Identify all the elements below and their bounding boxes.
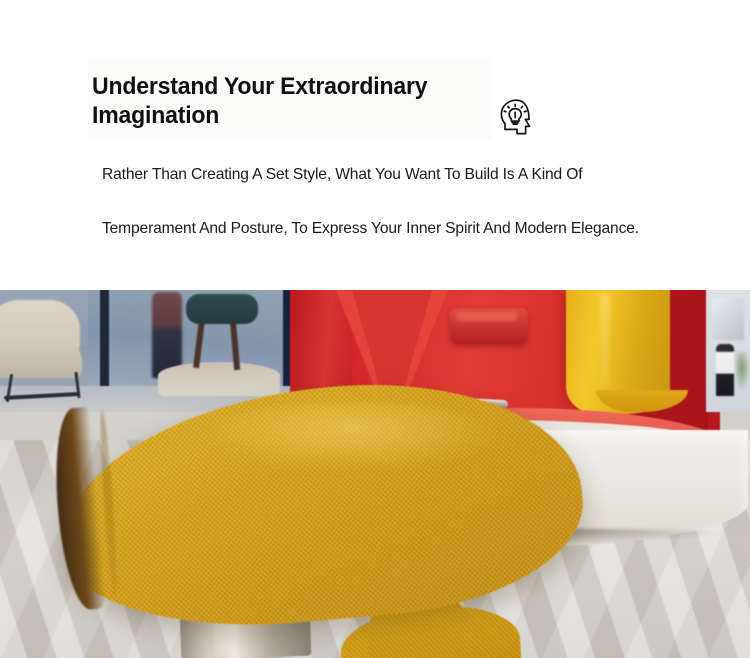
body-copy: Rather Than Creating A Set Style, What Y… — [102, 166, 742, 238]
copy-section: Understand Your Extraordinary Imaginatio… — [0, 0, 750, 290]
cream-armchair-seat — [0, 342, 82, 378]
showroom-photo — [0, 290, 750, 658]
red-display-seat-highlight — [456, 312, 518, 321]
page-title: Understand Your Extraordinary Imaginatio… — [92, 72, 476, 130]
far-right-signage — [712, 298, 744, 340]
head-lightbulb-icon — [496, 96, 534, 138]
body-line-1: Rather Than Creating A Set Style, What Y… — [102, 166, 726, 184]
body-line-2: Temperament And Posture, To Express Your… — [102, 220, 726, 238]
yellow-chair-highlight — [200, 402, 500, 472]
headline-row: Understand Your Extraordinary Imaginatio… — [92, 72, 712, 130]
stool-plinth — [158, 362, 280, 396]
far-right-visitor — [716, 344, 734, 396]
window-mullion-left — [100, 290, 109, 394]
far-right-plant — [736, 352, 750, 392]
teal-stool-seat — [186, 294, 258, 324]
product-detail-banner: Understand Your Extraordinary Imaginatio… — [0, 0, 750, 658]
